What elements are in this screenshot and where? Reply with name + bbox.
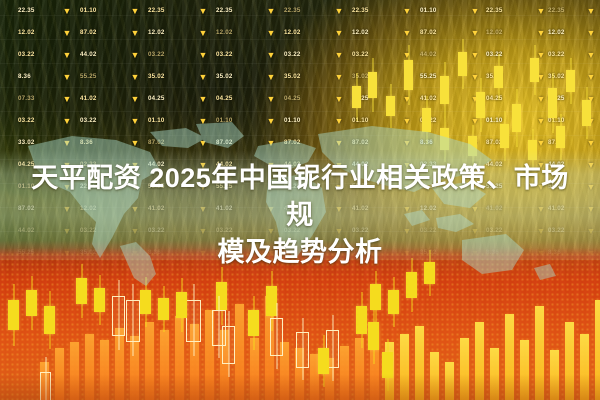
candlestick (248, 296, 259, 350)
candlestick-body (158, 298, 169, 320)
candlestick-body (368, 322, 379, 350)
candlestick (356, 292, 367, 348)
page-title-line-2: 模及趋势分析 (0, 234, 600, 271)
candlestick-body (248, 310, 259, 336)
candlestick (158, 286, 169, 332)
banner-title-block: 天平配资 2025年中国铌行业相关政策、市场规 模及趋势分析 (0, 160, 600, 271)
page-title-line-1: 天平配资 2025年中国铌行业相关政策、市场规 (0, 160, 600, 234)
candlestick-body (140, 290, 151, 314)
candlestick-body (186, 300, 201, 342)
candlestick-body (8, 300, 19, 330)
candlestick-body (126, 300, 140, 342)
candlestick-body (44, 306, 55, 334)
candlestick (186, 284, 201, 356)
candlestick (222, 311, 235, 377)
bottom-fade-overlay (0, 374, 600, 400)
candlestick-body (318, 348, 329, 374)
candlestick-body (26, 290, 37, 316)
candlestick-body (94, 288, 105, 312)
candlestick (270, 303, 283, 369)
candlestick-body (112, 296, 125, 336)
candlestick-body (222, 326, 235, 364)
candlestick (368, 308, 379, 364)
article-banner: 22.3512.0203.228.3607.3303.2233.0204.250… (0, 0, 600, 400)
candlestick (8, 284, 19, 346)
candlestick (112, 280, 125, 350)
candlestick (296, 318, 309, 380)
candlestick (126, 284, 140, 356)
candlestick-body (296, 332, 309, 368)
candlestick-body (356, 306, 367, 334)
candlestick-body (176, 292, 187, 318)
candlestick-body (388, 290, 399, 314)
candlestick (44, 291, 55, 349)
candlestick-body (270, 318, 283, 356)
